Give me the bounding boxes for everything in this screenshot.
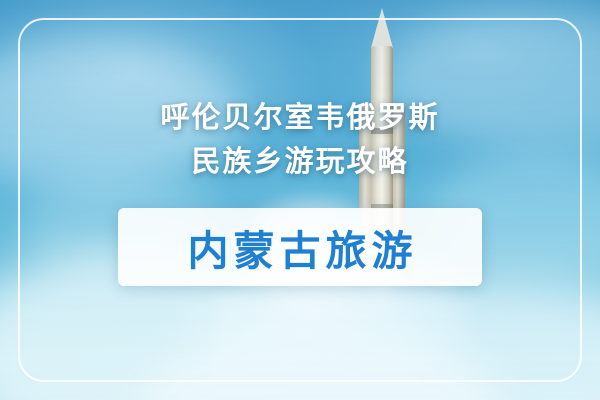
travel-poster: 呼伦贝尔室韦俄罗斯 民族乡游玩攻略 内蒙古旅游	[0, 0, 600, 400]
poster-headline: 呼伦贝尔室韦俄罗斯 民族乡游玩攻略	[0, 96, 600, 184]
color-tint-overlay	[0, 0, 600, 400]
poster-title: 内蒙古旅游	[118, 208, 482, 286]
